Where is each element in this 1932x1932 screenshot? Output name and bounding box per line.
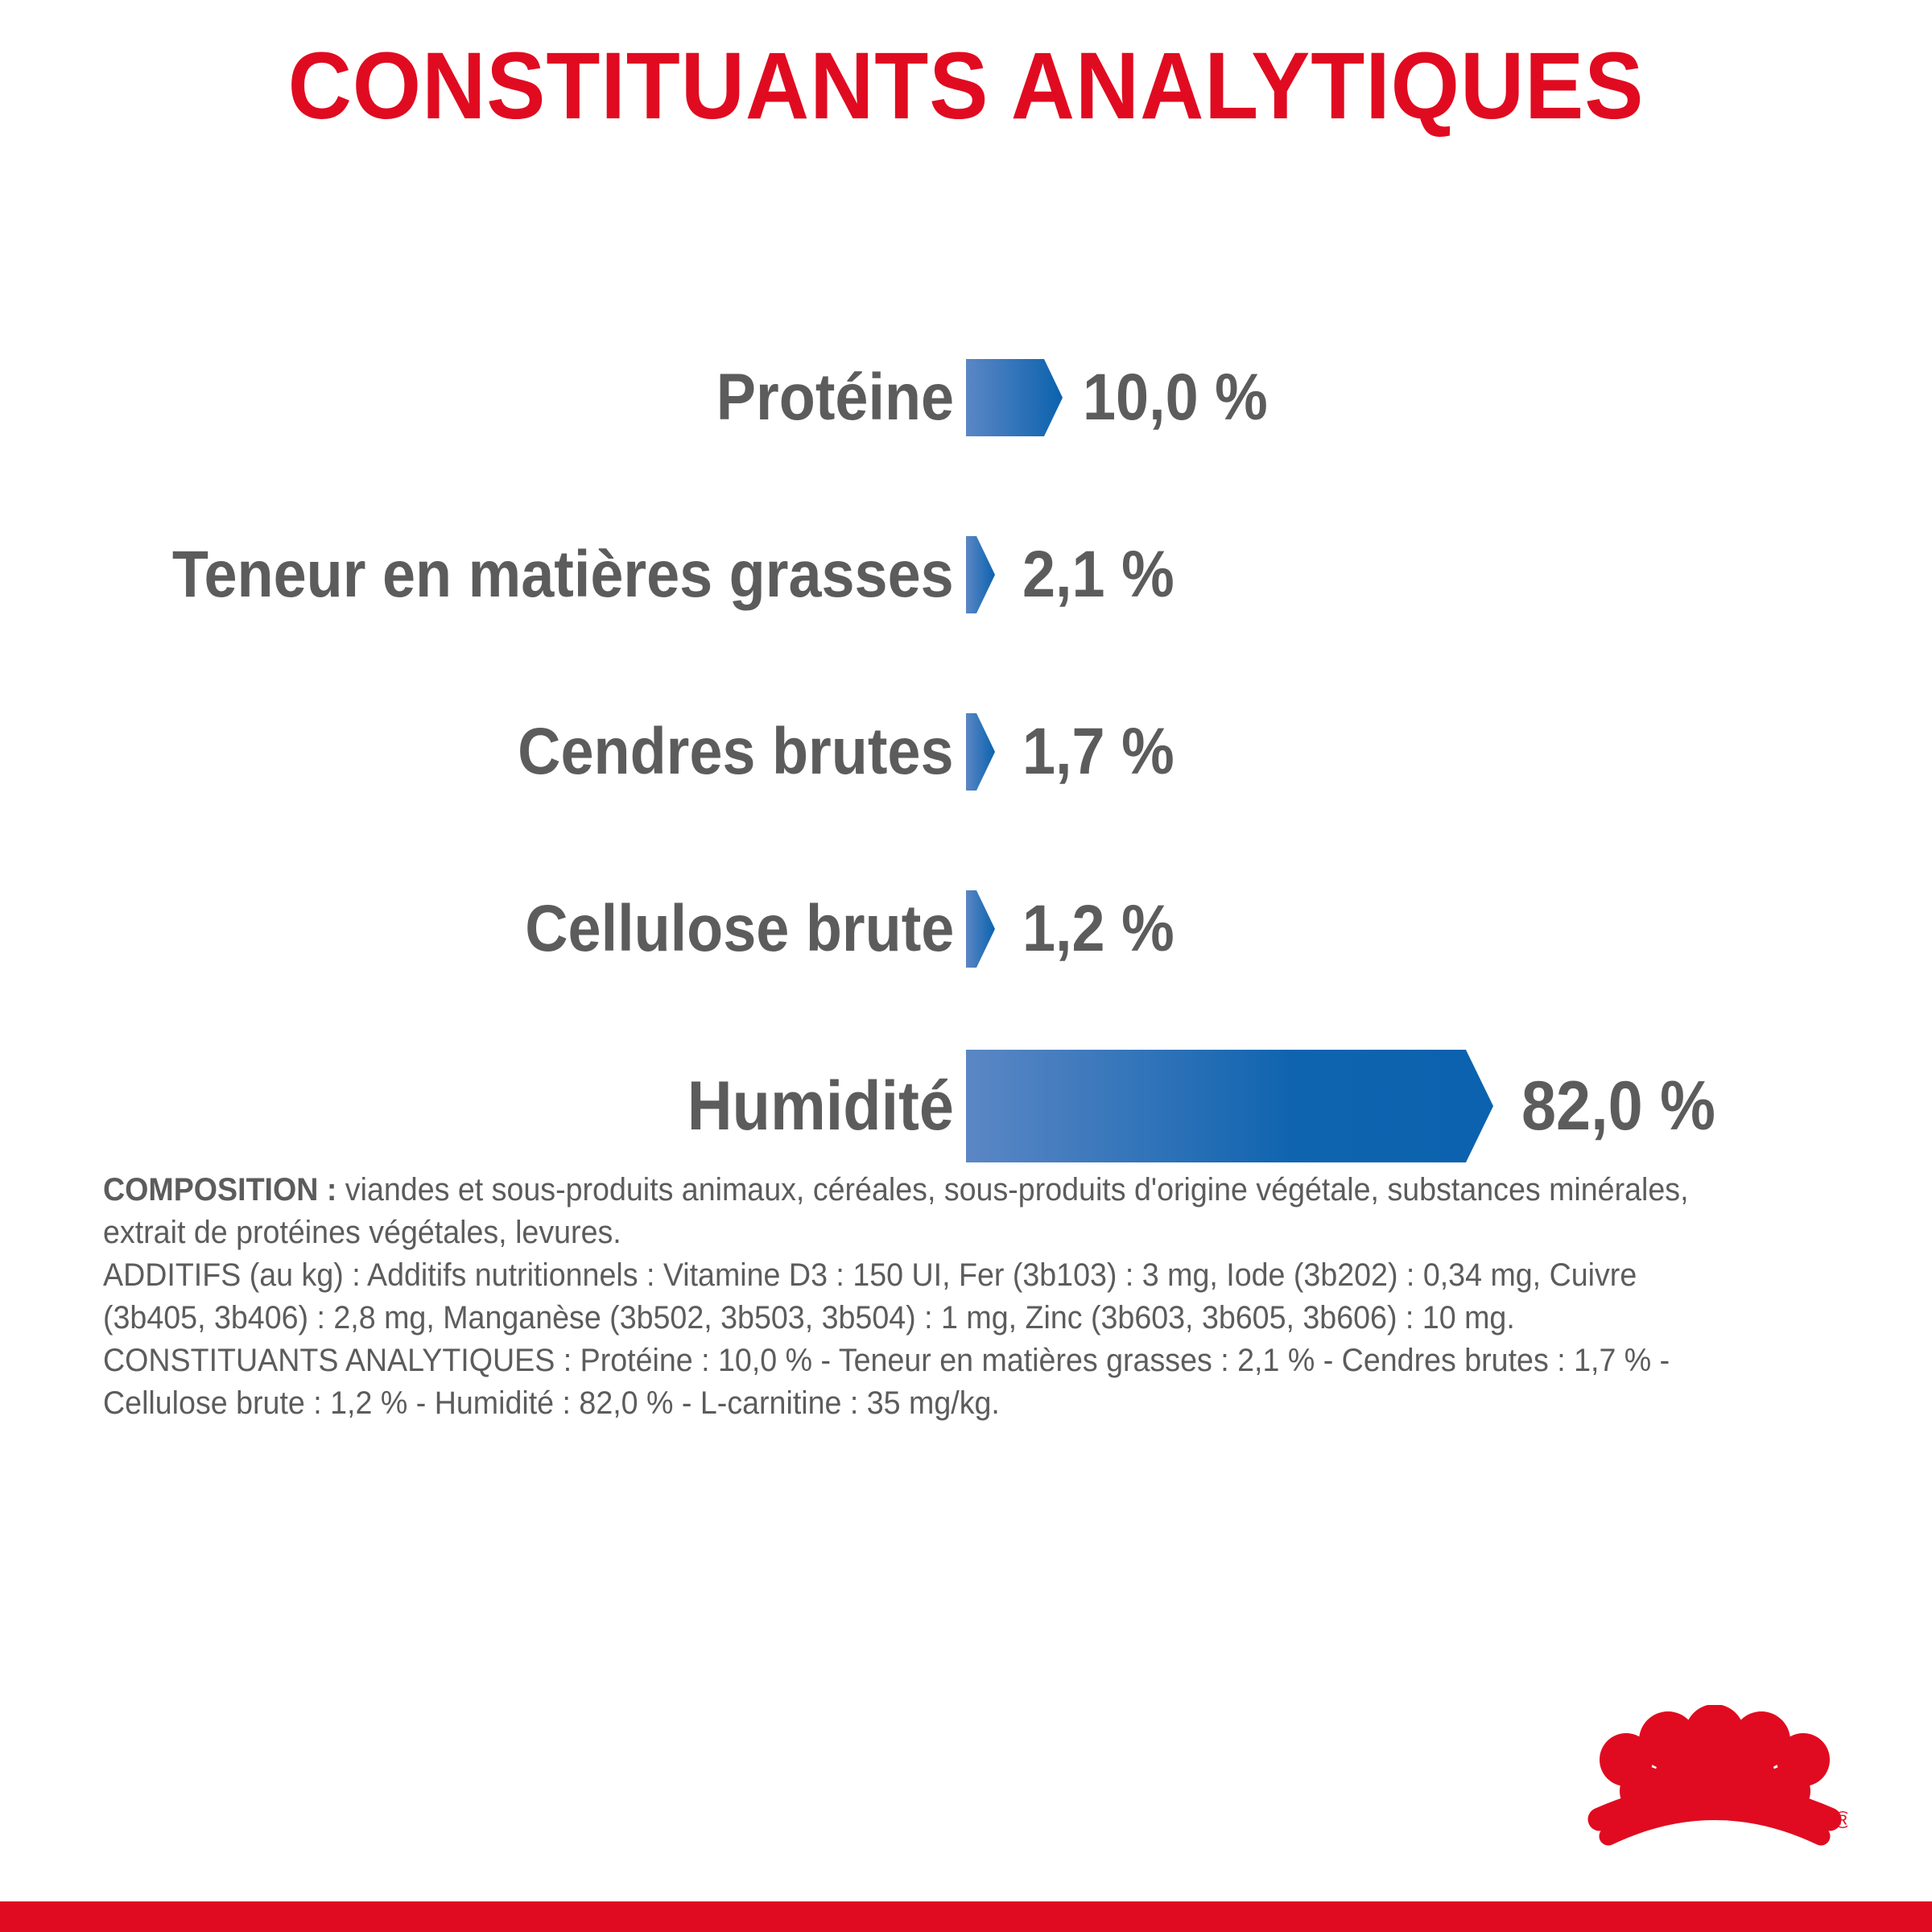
nutrient-label-humidite: Humidité [687, 1071, 954, 1141]
composition-text-block: COMPOSITION : viandes et sous-produits a… [103, 1169, 1730, 1425]
analytical-constituents-chart: Protéine 10,0 % Teneur en matières grass… [0, 346, 1932, 1158]
nutrient-value-proteine: 10,0 % [1083, 365, 1268, 431]
royal-canin-crown-logo: ® [1582, 1705, 1847, 1866]
nutrient-bar-matieres-grasses [966, 536, 995, 613]
analytical-constituents-line: CONSTITUANTS ANALYTIQUES : Protéine : 10… [103, 1340, 1730, 1425]
nutrient-row: Humidité 82,0 % [0, 1055, 1932, 1158]
additives-line: ADDITIFS (au kg) : Additifs nutritionnel… [103, 1254, 1730, 1340]
page-title: CONSTITUANTS ANALYTIQUES [68, 39, 1864, 134]
composition-line: COMPOSITION : viandes et sous-produits a… [103, 1169, 1730, 1254]
nutrient-bar-cendres-brutes [966, 713, 995, 791]
nutrient-label-matieres-grasses: Teneur en matières grasses [172, 542, 954, 608]
bottom-accent-bar [0, 1901, 1932, 1932]
nutrient-value-matieres-grasses: 2,1 % [1022, 542, 1174, 608]
nutrient-bar-humidite [966, 1050, 1493, 1162]
nutrient-value-humidite: 82,0 % [1521, 1071, 1715, 1141]
composition-body: viandes et sous-produits animaux, céréal… [103, 1172, 1689, 1250]
nutrient-bar-cellulose-brute [966, 890, 995, 968]
nutrient-row: Protéine 10,0 % [0, 346, 1932, 449]
nutrient-row: Cellulose brute 1,2 % [0, 877, 1932, 980]
nutrient-bar-proteine [966, 359, 1063, 436]
nutrient-label-proteine: Protéine [716, 365, 954, 431]
registered-mark-icon: ® [1834, 1807, 1847, 1834]
nutrient-value-cellulose-brute: 1,2 % [1022, 896, 1174, 962]
composition-heading: COMPOSITION : [103, 1172, 336, 1207]
nutrient-label-cendres-brutes: Cendres brutes [518, 719, 954, 785]
nutrient-row: Cendres brutes 1,7 % [0, 700, 1932, 803]
nutrient-row: Teneur en matières grasses 2,1 % [0, 523, 1932, 626]
nutrient-label-cellulose-brute: Cellulose brute [525, 896, 954, 962]
nutrient-value-cendres-brutes: 1,7 % [1022, 719, 1174, 785]
